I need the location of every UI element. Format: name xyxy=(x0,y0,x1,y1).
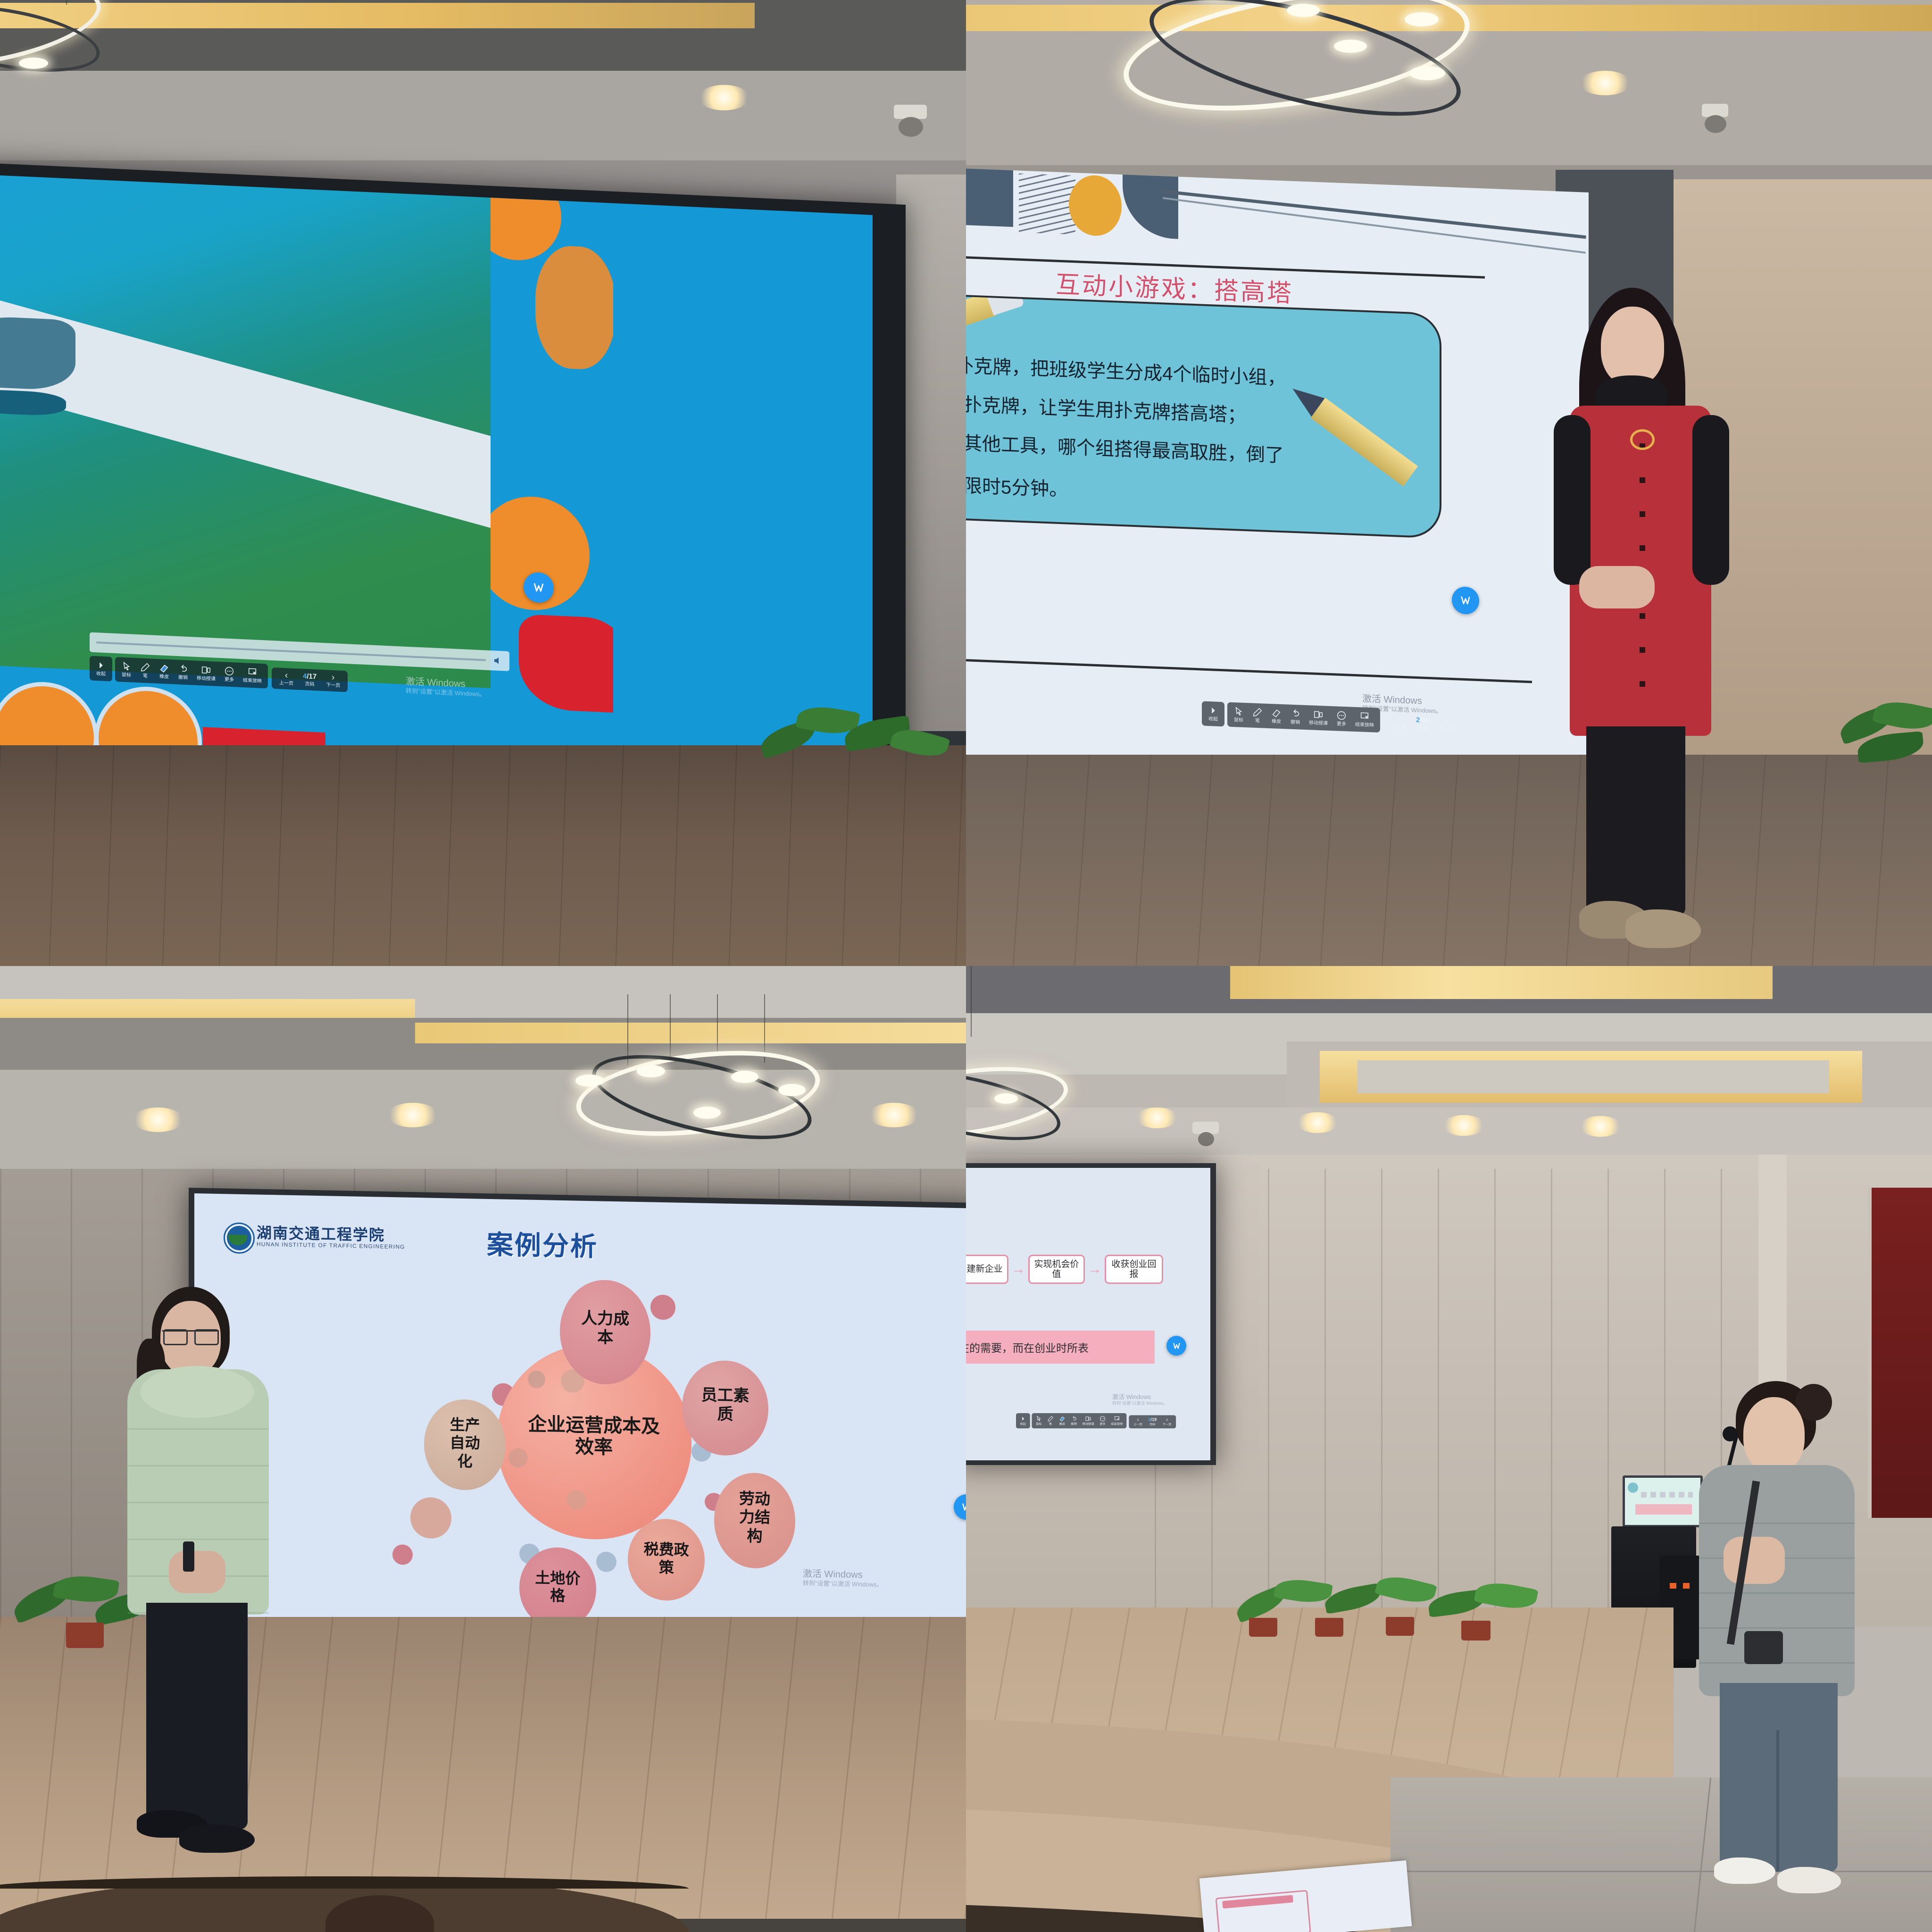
tool-end-label: 结束放映 xyxy=(1355,722,1374,729)
security-camera-dome xyxy=(1705,115,1726,133)
flow-node: 收获创业回报 xyxy=(1105,1255,1163,1284)
undo-icon xyxy=(1071,1416,1077,1422)
projection-screen: 互动小游戏：搭高塔 戏规则 准备4副扑克牌，把班级学生分成4个临时小组， 组发一… xyxy=(966,167,1589,801)
more-icon xyxy=(1099,1416,1106,1422)
presenter-clicker xyxy=(183,1541,194,1572)
collapse-label: 收起 xyxy=(1020,1423,1026,1426)
page-indicator[interactable]: 4/17 页码 xyxy=(299,672,320,688)
chandelier xyxy=(966,1013,1108,1150)
security-camera-dome xyxy=(1198,1132,1214,1146)
tool-pen-label: 笔 xyxy=(1049,1423,1052,1426)
tool-pen-label: 笔 xyxy=(143,674,148,679)
watermark-line2: 转到"设置"以激活 Windows。 xyxy=(1112,1401,1167,1406)
tool-eraser[interactable]: 橡皮 xyxy=(1267,707,1286,726)
tool-cursor-label: 鼠标 xyxy=(122,673,131,679)
flower-pot xyxy=(1386,1617,1414,1636)
wps-logo-icon xyxy=(532,580,546,595)
tool-more[interactable]: 更多 xyxy=(220,665,239,684)
toolbar-collapse-group[interactable]: 收起 xyxy=(1202,701,1224,727)
tool-undo[interactable]: 撤销 xyxy=(1286,707,1305,727)
bubble-label: 土地价格 xyxy=(519,1569,596,1606)
confidence-monitor xyxy=(1623,1475,1703,1527)
flow-node: 实现机会价值 xyxy=(1028,1255,1085,1284)
page-label: 页码 xyxy=(305,682,315,688)
tool-mobile-teaching[interactable]: 移动授课 xyxy=(1305,708,1332,728)
wps-floating-ball[interactable] xyxy=(1166,1336,1186,1356)
hands xyxy=(169,1551,225,1593)
black-trousers xyxy=(146,1603,248,1829)
panel-bottom-left: 湖南交通工程学院 HUNAN INSTITUTE OF TRAFFIC ENGI… xyxy=(0,966,966,1932)
bubble-yuangong-suzhi: 员工素质 xyxy=(682,1360,768,1457)
downlight xyxy=(868,1103,920,1127)
tool-mobile-label: 移动授课 xyxy=(1083,1423,1094,1426)
watermark-line1: 激活 Windows xyxy=(1112,1393,1167,1401)
page-total: 19 xyxy=(1152,1417,1157,1423)
tool-end-label: 结束放映 xyxy=(243,678,262,684)
toolbar-tools-group[interactable]: 鼠标 笔 橡皮 撤销 移动授课 xyxy=(1227,702,1380,733)
mobile-teaching-icon xyxy=(1313,709,1324,720)
chandelier xyxy=(0,0,170,108)
shoe xyxy=(179,1824,255,1853)
presenter xyxy=(1692,1381,1900,1909)
page-label: 页码 xyxy=(1149,1423,1155,1426)
page-indicator[interactable]: 2/46 页码 xyxy=(1412,716,1433,732)
flower-pot xyxy=(1249,1618,1277,1637)
downlight xyxy=(132,1108,184,1132)
page-indicator[interactable]: 2/19 页码 xyxy=(1146,1417,1159,1426)
downlight xyxy=(698,85,750,110)
bubble-center-label: 企业运营成本及效率 xyxy=(497,1413,691,1460)
flower-pot xyxy=(66,1623,104,1648)
tool-end-label: 结束放映 xyxy=(1111,1423,1123,1426)
undo-icon xyxy=(1290,708,1300,719)
security-camera-dome xyxy=(899,117,923,137)
flow-arrow-icon: → xyxy=(1085,1261,1105,1277)
watermark-line2: 转到"设置"以激活 Windows。 xyxy=(803,1580,883,1589)
watermark-line1: 激活 Windows xyxy=(803,1568,883,1581)
glasses-lens xyxy=(163,1329,188,1345)
tool-pen[interactable]: 笔 xyxy=(1045,1415,1057,1427)
decor-bubble xyxy=(392,1544,413,1565)
slide-line: 组发一副扑克牌，让学生用扑克牌搭高塔； xyxy=(966,386,1246,427)
end-show-icon xyxy=(247,667,258,678)
belt-pack xyxy=(1744,1631,1783,1664)
potted-plant xyxy=(755,698,958,783)
wps-logo-icon xyxy=(1172,1341,1182,1351)
potted-plant-row xyxy=(1230,1565,1560,1650)
toolbar-collapse-group[interactable]: 收起 xyxy=(1016,1413,1030,1428)
flower-pot xyxy=(1315,1618,1343,1637)
glasses-lens xyxy=(194,1329,219,1345)
chandelier xyxy=(575,994,840,1155)
cursor-icon xyxy=(1233,706,1244,717)
mobile-teaching-icon xyxy=(1085,1416,1091,1422)
tool-cursor-label: 鼠标 xyxy=(1234,717,1243,724)
tool-eraser-label: 橡皮 xyxy=(1272,719,1281,725)
bubble-laodongli-jiegou: 劳动力结构 xyxy=(714,1473,796,1569)
panel-bottom-right: 创建新企业 → 实现机会价值 → 收获创业回报 或外在的需要，而在创业时所表 激… xyxy=(966,966,1932,1932)
highlight-band: 或外在的需要，而在创业时所表 xyxy=(966,1331,1155,1364)
toolbar-tools-group[interactable]: 鼠标 笔 橡皮 撤销 移动授课 xyxy=(1032,1413,1126,1428)
tool-eraser[interactable]: 橡皮 xyxy=(155,662,174,682)
downlight xyxy=(1442,1115,1485,1136)
school-logo: 湖南交通工程学院 HUNAN INSTITUTE OF TRAFFIC ENGI… xyxy=(224,1220,379,1258)
jeans-split xyxy=(1776,1730,1779,1872)
bubble-label: 税费政策 xyxy=(628,1540,705,1577)
tool-undo-label: 撤销 xyxy=(1291,720,1300,726)
next-page-button[interactable]: › 下一页 xyxy=(322,673,344,689)
tool-more[interactable]: 更多 xyxy=(1097,1415,1108,1427)
speaker-icon xyxy=(492,655,504,666)
mobile-teaching-icon xyxy=(201,665,211,675)
slide-line: 以重来，限时5分钟。 xyxy=(966,467,1068,502)
tool-more-label: 更多 xyxy=(1099,1423,1105,1426)
undo-icon xyxy=(178,664,188,675)
bubble-label: 劳动力结构 xyxy=(714,1489,796,1546)
windows-activation-watermark: 激活 Windows 转到"设置"以激活 Windows。 xyxy=(803,1568,883,1589)
tool-pen-label: 笔 xyxy=(1255,718,1260,724)
more-icon xyxy=(224,666,234,676)
brooch xyxy=(1630,429,1655,450)
chevron-left-icon: ‹ xyxy=(285,671,288,680)
tool-mobile-label: 移动授课 xyxy=(1309,720,1328,727)
slide-title: 案例分析 xyxy=(487,1224,598,1264)
next-page-label: 下一页 xyxy=(1439,726,1453,733)
tool-mobile-teaching[interactable]: 移动授课 xyxy=(1080,1415,1097,1427)
bubble-renli-chengben: 人力成本 xyxy=(560,1279,650,1385)
panel-top-right: 互动小游戏：搭高塔 戏规则 准备4副扑克牌，把班级学生分成4个临时小组， 组发一… xyxy=(966,0,1932,966)
eraser-icon xyxy=(159,663,169,674)
amp-led xyxy=(1670,1583,1676,1589)
tool-more-label: 更多 xyxy=(1337,722,1346,728)
next-page-label: 下一页 xyxy=(326,683,340,689)
tool-cursor[interactable]: 鼠标 xyxy=(1229,705,1248,725)
next-page-button[interactable]: › 下一页 xyxy=(1435,716,1457,733)
collapse-arrow-icon xyxy=(1208,705,1218,716)
tool-eraser-label: 橡皮 xyxy=(159,674,169,680)
tool-cursor-label: 鼠标 xyxy=(1036,1423,1041,1426)
collapse-arrow-icon xyxy=(96,660,106,671)
tool-undo-label: 撤销 xyxy=(1071,1423,1077,1426)
tool-more[interactable]: 更多 xyxy=(1332,709,1351,729)
flow-arrow-icon: → xyxy=(1008,1261,1028,1277)
downlight xyxy=(1579,71,1631,95)
tool-pen[interactable]: 笔 xyxy=(136,661,155,681)
slide-line: 准备4副扑克牌，把班级学生分成4个临时小组， xyxy=(966,348,1286,390)
chevron-left-icon: ‹ xyxy=(1137,1417,1139,1423)
slide-line: 不准借用其他工具，哪个组搭得最高取胜，倒了 xyxy=(966,425,1284,467)
prev-page-button[interactable]: ‹ 上一页 xyxy=(1389,715,1410,731)
ceiling-inner xyxy=(1357,1060,1829,1093)
page-label: 页码 xyxy=(1418,725,1428,732)
ceiling-cove-light xyxy=(1230,966,1773,999)
head xyxy=(1601,307,1664,386)
collapse-label: 收起 xyxy=(1208,716,1218,723)
photo-collage: 激活 Windows 转到"设置"以激活 Windows。 xyxy=(0,0,1932,1932)
tool-end-show[interactable]: 结束放映 xyxy=(1351,710,1378,730)
bubble-chart: 企业运营成本及效率 人力成本 员工素质 劳动力结构 税费政策 土地价格 生产自动… xyxy=(392,1273,845,1621)
tool-eraser[interactable]: 橡皮 xyxy=(1057,1415,1068,1427)
end-show-icon xyxy=(1359,711,1370,722)
tool-cursor[interactable]: 鼠标 xyxy=(1033,1415,1045,1427)
led-screen: 激活 Windows 转到"设置"以激活 Windows。 xyxy=(0,175,873,800)
collapse-button[interactable]: 收起 xyxy=(92,659,110,679)
wall-panel xyxy=(896,175,966,731)
ppt-pager[interactable]: ‹ 上一页 4/17 页码 › 下一页 xyxy=(272,667,348,692)
headset-mic-capsule xyxy=(1723,1426,1738,1441)
downlight xyxy=(1579,1116,1622,1137)
chevron-right-icon: › xyxy=(1445,716,1448,725)
hands xyxy=(1579,566,1655,608)
pen-icon xyxy=(1252,707,1263,718)
hands xyxy=(1724,1537,1785,1584)
flower-pot xyxy=(1461,1621,1491,1641)
panel-top-left: 激活 Windows 转到"设置"以激活 Windows。 xyxy=(0,0,966,966)
wps-floating-ball[interactable] xyxy=(1452,586,1479,615)
decor-bubble xyxy=(596,1552,616,1573)
tool-undo[interactable]: 撤销 xyxy=(1068,1415,1080,1427)
prev-page-label: 上一页 xyxy=(279,681,293,687)
chevron-right-icon: › xyxy=(332,673,334,682)
decor-bubble xyxy=(650,1295,675,1320)
prev-page-button[interactable]: ‹ 上一页 xyxy=(1131,1417,1145,1426)
toolbar-collapse-group[interactable]: 收起 xyxy=(90,656,112,681)
next-page-label: 下一页 xyxy=(1163,1423,1172,1426)
floor-planks xyxy=(966,755,1932,966)
head xyxy=(1743,1397,1805,1473)
tool-more-label: 更多 xyxy=(225,677,234,683)
collapse-arrow-icon xyxy=(1020,1416,1026,1422)
end-show-icon xyxy=(1114,1416,1120,1422)
tool-end-show[interactable]: 结束放映 xyxy=(1108,1415,1125,1427)
pencil-graphic xyxy=(1271,370,1434,513)
tool-eraser-label: 橡皮 xyxy=(1059,1423,1065,1426)
projection-screen: 创建新企业 → 实现机会价值 → 收获创业回报 或外在的需要，而在创业时所表 激… xyxy=(966,1168,1210,1460)
cursor-icon xyxy=(121,661,132,672)
collapse-button[interactable]: 收起 xyxy=(1017,1415,1029,1427)
bubble-label: 员工素质 xyxy=(682,1385,768,1425)
slide-content-box: 戏规则 准备4副扑克牌，把班级学生分成4个临时小组， 组发一副扑克牌，让学生用扑… xyxy=(966,292,1441,539)
bubble-label: 生产自动化 xyxy=(424,1415,506,1471)
tool-end-show[interactable]: 结束放映 xyxy=(239,666,266,686)
slide-bottom-rule xyxy=(966,658,1532,683)
amp-led xyxy=(1683,1583,1690,1589)
pen-icon xyxy=(1047,1416,1054,1422)
wps-logo-icon xyxy=(1459,593,1472,607)
potted-plant xyxy=(1829,698,1932,788)
bubble-shuifei-zhengce: 税费政策 xyxy=(628,1518,705,1601)
prev-page-label: 上一页 xyxy=(1392,724,1407,731)
more-icon xyxy=(1336,710,1347,721)
pen-icon xyxy=(140,662,150,673)
windows-activation-watermark: 激活 Windows 转到"设置"以激活 Windows。 xyxy=(1112,1393,1167,1406)
tool-cursor[interactable]: 鼠标 xyxy=(117,660,136,680)
downlight xyxy=(387,1103,439,1127)
page-total: 46 xyxy=(1422,716,1430,724)
sleeve-right xyxy=(1692,415,1729,585)
collapse-button[interactable]: 收起 xyxy=(1204,704,1223,724)
page-total: 17 xyxy=(309,673,317,681)
next-page-button[interactable]: › 下一页 xyxy=(1160,1417,1174,1426)
bubble-label: 人力成本 xyxy=(560,1308,650,1348)
downlight xyxy=(1136,1108,1178,1128)
legs xyxy=(1586,726,1685,915)
ppt-presenter-toolbar[interactable]: 收起 鼠标 笔 橡皮 撤销 xyxy=(1016,1413,1176,1428)
tool-undo[interactable]: 撤销 xyxy=(174,663,192,683)
ppt-pager[interactable]: ‹ 上一页 2/19 页码 › 下一页 xyxy=(1129,1415,1176,1428)
eraser-icon xyxy=(1271,708,1282,718)
flow-node: 创建新企业 xyxy=(966,1255,1008,1284)
bubble-shengchan-zidonghua: 生产自动化 xyxy=(424,1399,506,1491)
tool-undo-label: 撤销 xyxy=(178,675,188,681)
prev-page-label: 上一页 xyxy=(1133,1423,1142,1426)
ppt-pager[interactable]: ‹ 上一页 2/46 页码 › 下一页 xyxy=(1385,711,1461,735)
jacket-hood xyxy=(141,1366,254,1418)
slide-decor-shapes xyxy=(966,167,1183,252)
decor-bubble xyxy=(410,1497,451,1539)
presenter xyxy=(1508,288,1773,966)
tool-pen[interactable]: 笔 xyxy=(1248,706,1267,725)
wps-logo-icon xyxy=(960,1501,966,1513)
cursor-icon xyxy=(1036,1416,1042,1422)
downlight xyxy=(1296,1112,1339,1133)
chandelier xyxy=(1122,0,1518,132)
tool-mobile-teaching[interactable]: 移动授课 xyxy=(192,663,220,683)
windows-activation-watermark: 激活 Windows 转到"设置"以激活 Windows。 xyxy=(406,676,486,699)
flow-chart: 创建新企业 → 实现机会价值 → 收获创业回报 xyxy=(966,1250,1174,1288)
chevron-right-icon: › xyxy=(1166,1417,1168,1423)
chevron-left-icon: ‹ xyxy=(1398,715,1401,724)
eraser-icon xyxy=(1059,1416,1066,1422)
shoe xyxy=(1625,909,1701,948)
presenter xyxy=(113,1287,311,1853)
sleeve-left xyxy=(1554,415,1591,585)
tool-mobile-label: 移动授课 xyxy=(197,676,216,683)
collapse-label: 收起 xyxy=(96,671,106,677)
prev-page-button[interactable]: ‹ 上一页 xyxy=(275,670,297,687)
